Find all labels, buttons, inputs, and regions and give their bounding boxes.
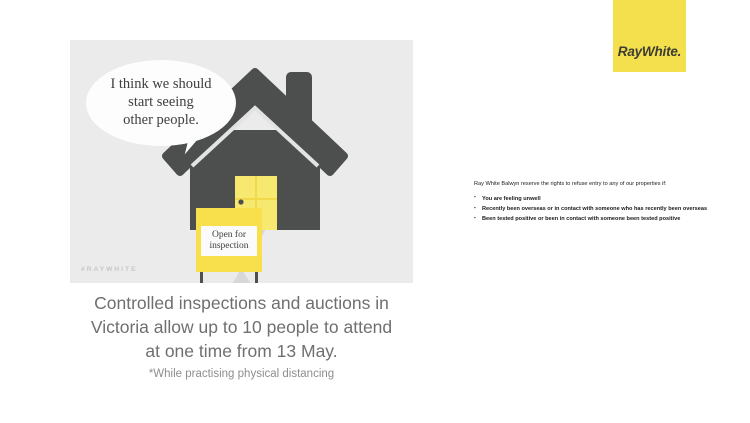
entry-notice-block: Ray White Balwyn reserve the rights to r… <box>474 181 736 226</box>
slide-canvas: RayWhite. I think we should start seei <box>0 0 750 423</box>
list-item: You are feeling unwell <box>474 195 736 203</box>
ray-white-logo-text: RayWhite. <box>618 44 681 59</box>
entry-notice-heading: Ray White Balwyn reserve the rights to r… <box>474 181 736 189</box>
sign-leg-right <box>255 272 258 283</box>
sign-leg-left <box>200 272 203 283</box>
hashtag-watermark: #RAYWHITE <box>81 266 138 273</box>
list-item: Been tested positive or been in contact … <box>474 215 736 223</box>
main-caption: Controlled inspections and auctions in V… <box>70 292 413 363</box>
speech-bubble-text: I think we should start seeing other peo… <box>110 76 211 129</box>
sign-board: Open for inspection <box>196 208 262 272</box>
ray-white-logo: RayWhite. <box>613 0 686 72</box>
sub-caption: *While practising physical distancing <box>70 368 413 380</box>
illustration-panel: I think we should start seeing other peo… <box>70 40 413 283</box>
speech-bubble: I think we should start seeing other peo… <box>86 60 236 146</box>
list-item: Recently been overseas or in contact wit… <box>474 205 736 213</box>
entry-notice-list: You are feeling unwell Recently been ove… <box>474 195 736 224</box>
sign-text: Open for inspection <box>201 226 257 256</box>
open-for-inspection-sign: Open for inspection <box>196 208 262 272</box>
